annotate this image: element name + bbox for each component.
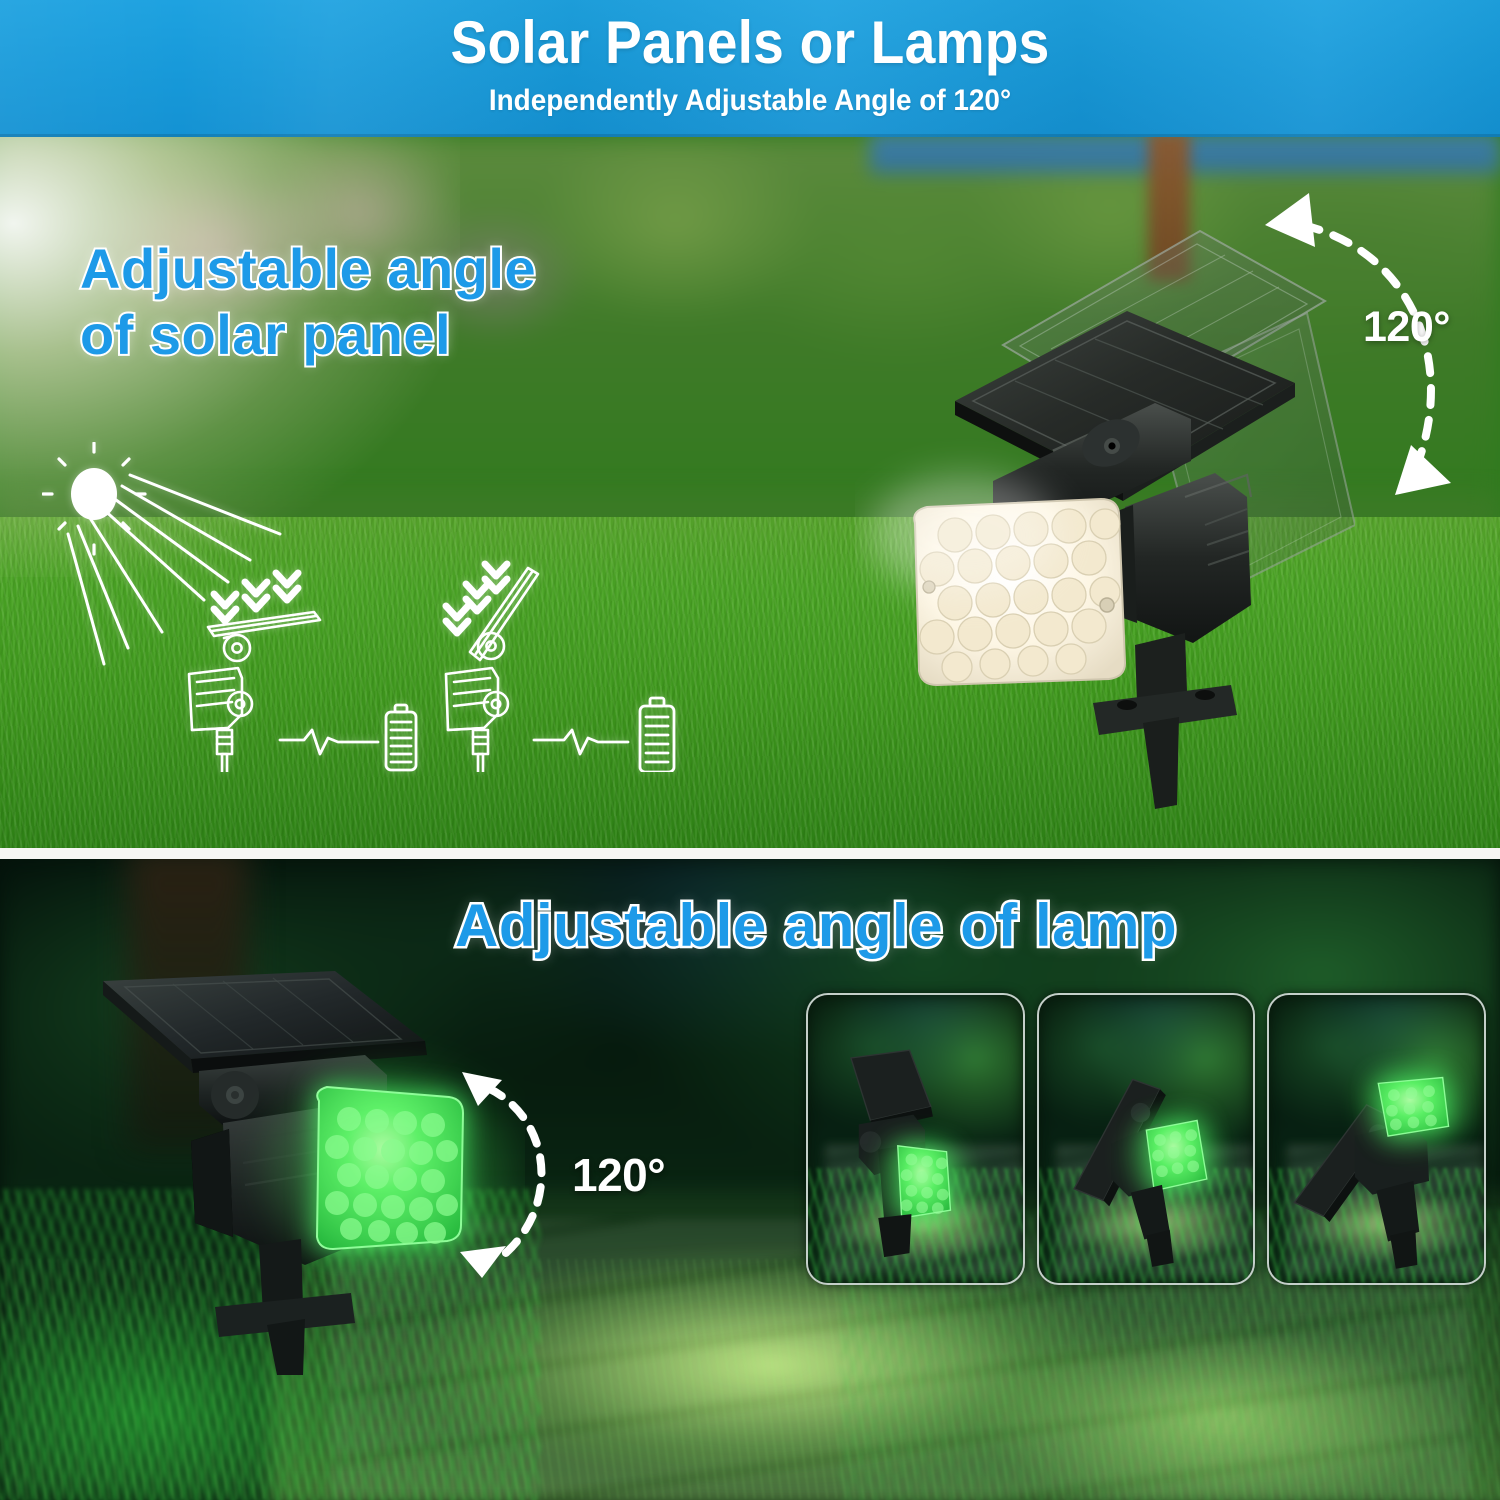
- product-infographic-page: Solar Panels or Lamps Independently Adju…: [0, 0, 1500, 1500]
- lamp-housing: [1107, 473, 1251, 643]
- thumbnail-lamp-angle-3[interactable]: [1267, 993, 1486, 1285]
- solar-lamp-panel-flat-icon: [189, 612, 320, 772]
- arrow-head-down: [460, 1246, 506, 1278]
- thumbnail-lamp-angle-2[interactable]: [1037, 993, 1256, 1285]
- thumbnail-lamp-angle-1[interactable]: [806, 993, 1025, 1285]
- lamp-illustration-2: [1039, 995, 1254, 1283]
- top-panel-heading: Adjustable angle of solar panel: [80, 236, 800, 368]
- banner-subtitle-text: Independently Adjustable Angle of: [489, 84, 954, 117]
- panel-divider: [0, 848, 1500, 859]
- angle-label-bottom: 120°: [572, 1148, 665, 1202]
- top-heading-line-2: of solar panel: [80, 302, 800, 368]
- signal-pulse-icon-left: [280, 730, 378, 754]
- angle-label-top: 120°: [1363, 303, 1450, 352]
- banner-title: Solar Panels or Lamps: [60, 8, 1440, 78]
- solar-panel: [103, 971, 427, 1073]
- banner-subtitle: Independently Adjustable Angle of 120°: [53, 83, 1448, 119]
- angle-arc-bottom: [450, 1050, 580, 1290]
- arrow-head-up: [1265, 193, 1315, 247]
- banner-subtitle-angle: 120°: [953, 84, 1011, 117]
- lamp-illustration-3: [1269, 995, 1484, 1283]
- ground-stake: [215, 1239, 355, 1375]
- signal-pulse-icon-right: [534, 730, 628, 754]
- charging-infographic: [42, 442, 702, 772]
- header-banner: Solar Panels or Lamps Independently Adju…: [0, 0, 1500, 137]
- lamp-angle-thumbnails: [806, 993, 1486, 1285]
- battery-icon-right: [640, 698, 674, 772]
- top-heading-line-1: Adjustable angle: [80, 236, 800, 302]
- lamp-illustration-1: [808, 995, 1023, 1283]
- bottom-panel-heading: Adjustable angle of lamp: [455, 890, 1485, 962]
- sun-icon: [43, 443, 145, 554]
- solar-lamp-panel-tilted-icon: [446, 568, 538, 772]
- battery-icon-left: [386, 705, 416, 770]
